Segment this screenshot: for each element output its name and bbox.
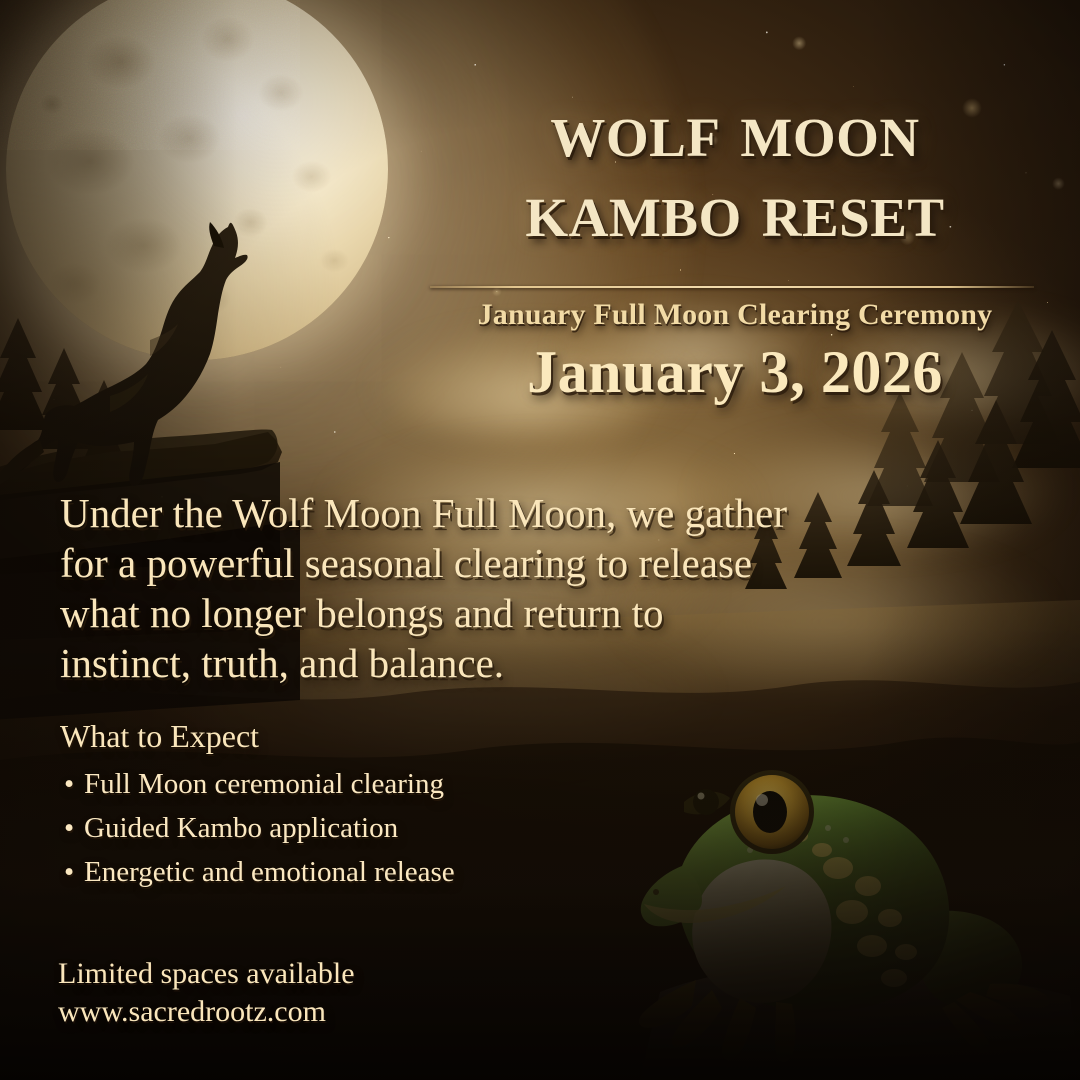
website-link[interactable]: www.sacredrootz.com <box>58 993 355 1031</box>
poster-canvas: Wolf Moon Kambo Reset January Full Moon … <box>0 0 1080 1080</box>
lede-line: what no longer belongs and return to <box>60 588 950 638</box>
what-to-expect-list: •Full Moon ceremonial clearing •Guided K… <box>64 762 455 894</box>
poster-footer: Limited spaces available www.sacredrootz… <box>58 955 355 1032</box>
list-item: •Full Moon ceremonial clearing <box>64 762 455 806</box>
title-line-1: Wolf Moon <box>424 92 1046 168</box>
title-line-2: Kambo Reset <box>424 172 1046 248</box>
availability-note: Limited spaces available <box>58 955 355 993</box>
poster-text-content: Wolf Moon Kambo Reset January Full Moon … <box>0 0 1080 1080</box>
what-to-expect-heading: What to Expect <box>60 718 259 755</box>
list-item-label: Guided Kambo application <box>84 812 398 844</box>
poster-title: Wolf Moon Kambo Reset <box>424 92 1046 249</box>
lede-line: for a powerful seasonal clearing to rele… <box>60 538 950 588</box>
event-date: January 3, 2026 <box>424 338 1046 407</box>
bullet-icon: • <box>64 762 84 806</box>
lede-line: Under the Wolf Moon Full Moon, we gather <box>60 488 950 538</box>
bullet-icon: • <box>64 850 84 894</box>
list-item-label: Full Moon ceremonial clearing <box>84 768 444 800</box>
poster-subtitle: January Full Moon Clearing Ceremony <box>424 298 1046 332</box>
list-item: •Energetic and emotional release <box>64 850 455 894</box>
title-divider <box>430 286 1034 288</box>
poster-lede: Under the Wolf Moon Full Moon, we gather… <box>60 488 950 688</box>
list-item: •Guided Kambo application <box>64 806 455 850</box>
lede-line: instinct, truth, and balance. <box>60 638 950 688</box>
bullet-icon: • <box>64 806 84 850</box>
list-item-label: Energetic and emotional release <box>84 856 455 888</box>
